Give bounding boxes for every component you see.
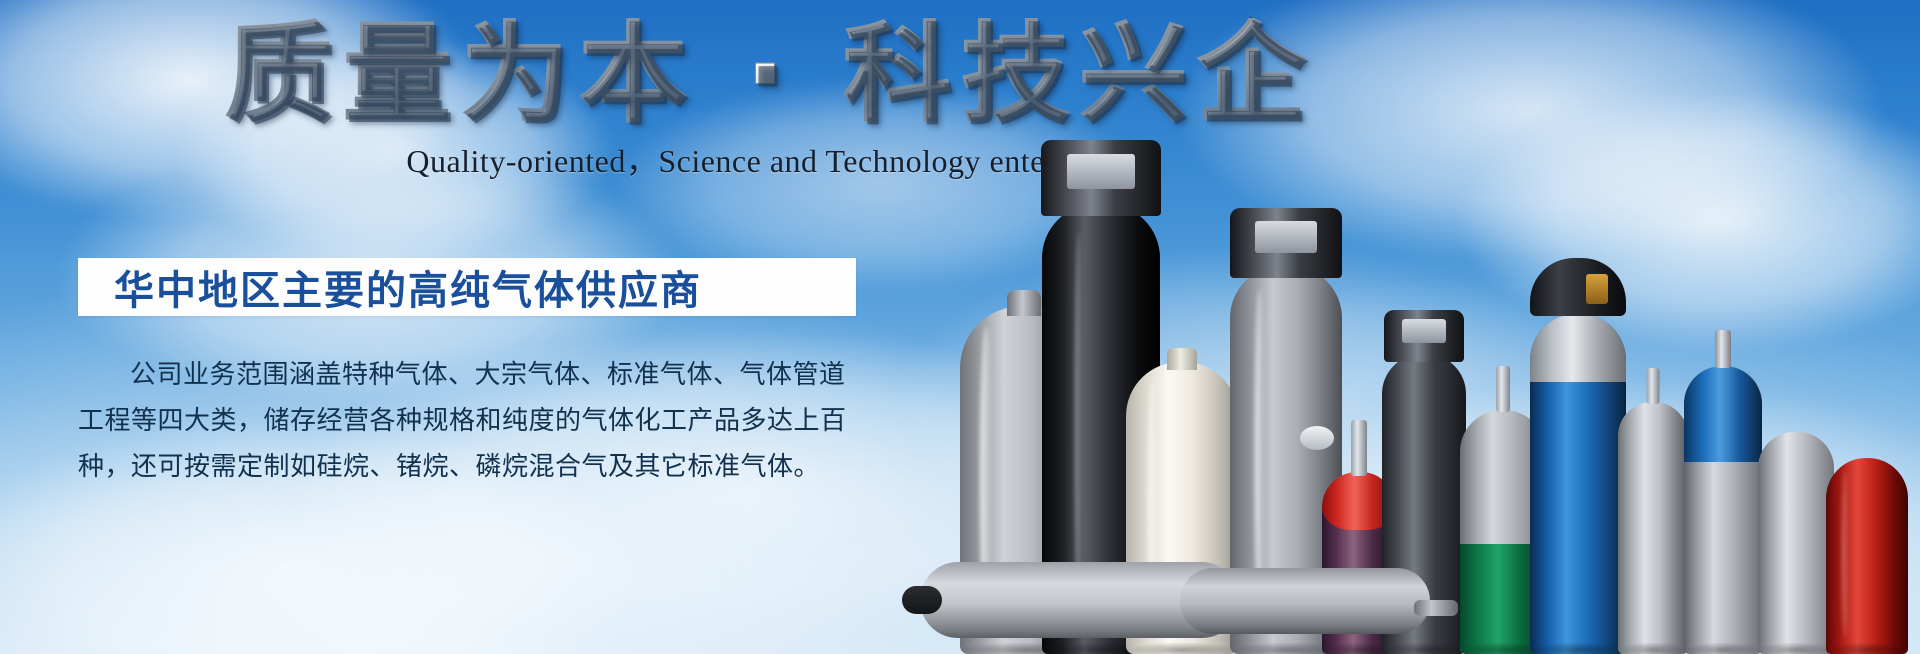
- promo-banner: 质量为本 · 科技兴企 Quality-oriented，Science and…: [0, 0, 1920, 654]
- description-line: 种，还可按需定制如硅烷、锗烷、磷烷混合气及其它标准气体。: [78, 444, 868, 490]
- description-line: 工程等四大类，储存经营各种规格和纯度的气体化工产品多达上百: [78, 398, 868, 444]
- cylinder-silver-slim: [1618, 402, 1688, 654]
- description-paragraph: 公司业务范围涵盖特种气体、大宗气体、标准气体、气体管道 工程等四大类，储存经营各…: [78, 352, 868, 490]
- cylinder-red: [1826, 458, 1908, 654]
- cylinder-blue-top: [1684, 366, 1762, 654]
- gas-cylinders-photo: [930, 0, 1920, 654]
- slogan-box: 华中地区主要的高纯气体供应商: [78, 258, 856, 316]
- description-line: 公司业务范围涵盖特种气体、大宗气体、标准气体、气体管道: [78, 352, 868, 398]
- tank-valve-neck: [1414, 600, 1458, 616]
- cylinder-blue: [1530, 314, 1626, 654]
- slogan-text: 华中地区主要的高纯气体供应商: [78, 258, 702, 316]
- tank-valve-cap: [902, 586, 942, 614]
- cylinder-silver-right: [1758, 432, 1834, 654]
- cylinder-horizontal-tank-2: [1180, 568, 1430, 634]
